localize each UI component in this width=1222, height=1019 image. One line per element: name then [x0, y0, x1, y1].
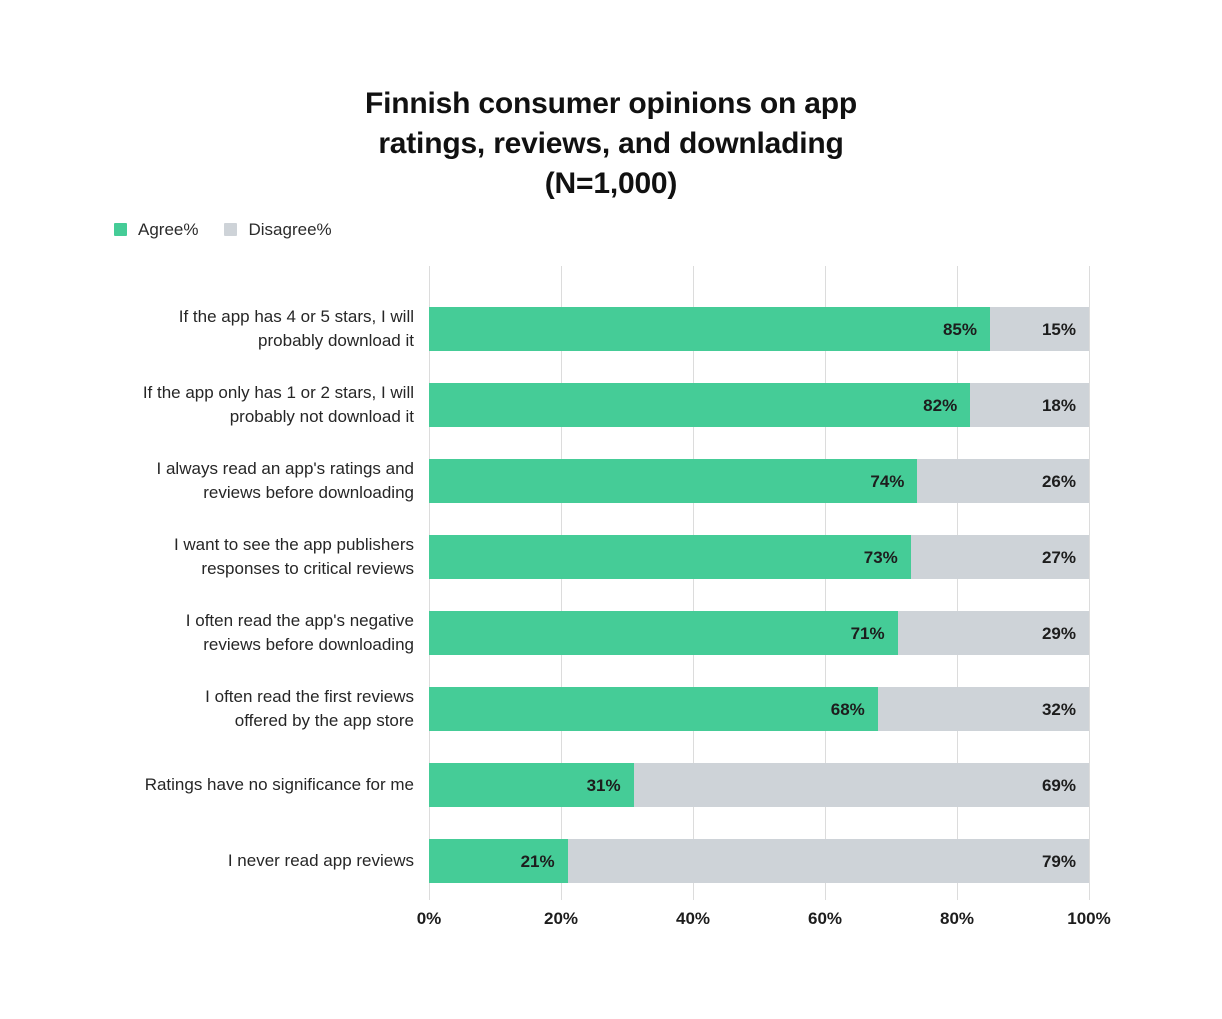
bar-row[interactable]: 21%79%	[429, 839, 1089, 883]
chart-plot: 85%15%82%18%74%26%73%27%71%29%68%32%31%6…	[0, 0, 1222, 1019]
bar-segment-disagree[interactable]: 15%	[990, 307, 1089, 351]
category-label: I want to see the app publishers respons…	[74, 533, 414, 581]
bar-segment-agree[interactable]: 85%	[429, 307, 990, 351]
x-axis-tick: 0%	[417, 909, 442, 929]
category-label: I always read an app's ratings and revie…	[74, 457, 414, 505]
bar-segment-disagree[interactable]: 32%	[878, 687, 1089, 731]
bar-value-disagree: 29%	[1042, 625, 1089, 642]
bar-value-disagree: 79%	[1042, 853, 1089, 870]
bar-value-disagree: 15%	[1042, 321, 1089, 338]
bar-segment-disagree[interactable]: 29%	[898, 611, 1089, 655]
category-label: I never read app reviews	[74, 849, 414, 873]
x-axis-tick: 60%	[808, 909, 842, 929]
bar-segment-disagree[interactable]: 26%	[917, 459, 1089, 503]
bar-value-agree: 74%	[870, 473, 917, 490]
bar-segment-disagree[interactable]: 27%	[911, 535, 1089, 579]
bar-value-agree: 31%	[587, 777, 634, 794]
bar-row[interactable]: 73%27%	[429, 535, 1089, 579]
x-axis-tick: 40%	[676, 909, 710, 929]
bar-value-agree: 73%	[864, 549, 911, 566]
bar-row[interactable]: 85%15%	[429, 307, 1089, 351]
bar-value-disagree: 18%	[1042, 397, 1089, 414]
bar-segment-agree[interactable]: 68%	[429, 687, 878, 731]
bar-row[interactable]: 31%69%	[429, 763, 1089, 807]
bar-value-agree: 85%	[943, 321, 990, 338]
category-label: If the app has 4 or 5 stars, I will prob…	[74, 305, 414, 353]
bar-value-disagree: 32%	[1042, 701, 1089, 718]
bar-segment-agree[interactable]: 21%	[429, 839, 568, 883]
bar-segment-disagree[interactable]: 69%	[634, 763, 1089, 807]
x-axis-tick: 20%	[544, 909, 578, 929]
bar-row[interactable]: 74%26%	[429, 459, 1089, 503]
x-axis-tick: 100%	[1067, 909, 1110, 929]
bar-segment-agree[interactable]: 31%	[429, 763, 634, 807]
bar-segment-agree[interactable]: 71%	[429, 611, 898, 655]
plot-area: 85%15%82%18%74%26%73%27%71%29%68%32%31%6…	[429, 266, 1089, 900]
bar-row[interactable]: 82%18%	[429, 383, 1089, 427]
bar-segment-disagree[interactable]: 18%	[970, 383, 1089, 427]
bar-segment-agree[interactable]: 74%	[429, 459, 917, 503]
bar-value-disagree: 27%	[1042, 549, 1089, 566]
bar-segment-disagree[interactable]: 79%	[568, 839, 1089, 883]
bar-value-agree: 68%	[831, 701, 878, 718]
gridline	[1089, 266, 1090, 900]
bar-row[interactable]: 68%32%	[429, 687, 1089, 731]
bar-value-agree: 21%	[521, 853, 568, 870]
bar-row[interactable]: 71%29%	[429, 611, 1089, 655]
x-axis-tick: 80%	[940, 909, 974, 929]
category-label: If the app only has 1 or 2 stars, I will…	[74, 381, 414, 429]
bar-value-agree: 82%	[923, 397, 970, 414]
x-axis: 0%20%40%60%80%100%	[429, 909, 1089, 933]
bar-value-agree: 71%	[851, 625, 898, 642]
bar-segment-agree[interactable]: 73%	[429, 535, 911, 579]
bar-segment-agree[interactable]: 82%	[429, 383, 970, 427]
bar-value-disagree: 26%	[1042, 473, 1089, 490]
category-label: I often read the first reviews offered b…	[74, 685, 414, 733]
category-label: Ratings have no significance for me	[74, 773, 414, 797]
bar-value-disagree: 69%	[1042, 777, 1089, 794]
category-label: I often read the app's negative reviews …	[74, 609, 414, 657]
